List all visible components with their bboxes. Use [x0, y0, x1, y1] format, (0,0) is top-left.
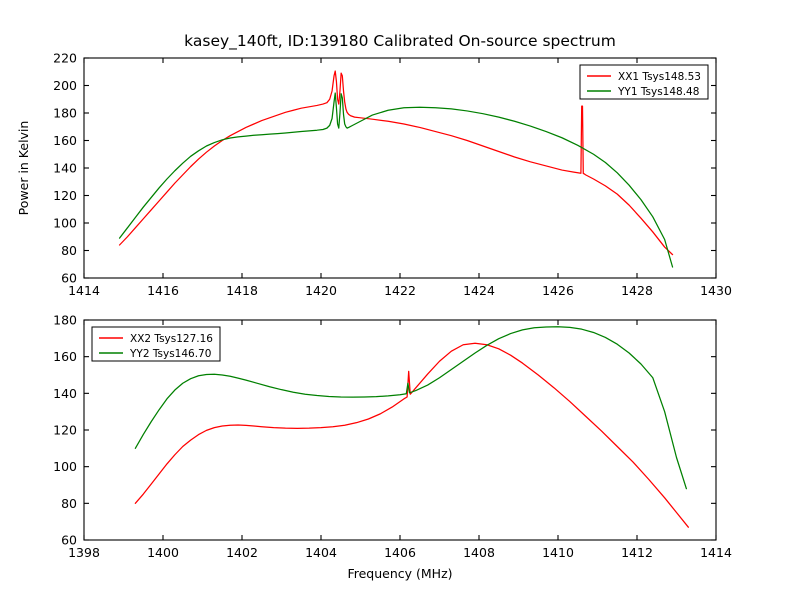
y-tick-label: 120: [53, 188, 77, 203]
y-tick-label: 160: [53, 133, 77, 148]
legend-label: YY1 Tsys148.48: [617, 86, 699, 98]
axes-panel-bottom: 1398140014021404140614081410141214146080…: [53, 313, 732, 582]
y-tick-label: 160: [53, 349, 77, 364]
y-tick-label: 80: [61, 496, 77, 511]
y-axis-label: Power in Kelvin: [16, 121, 31, 216]
x-tick-label: 1430: [700, 283, 732, 298]
x-tick-label: 1404: [305, 545, 337, 560]
y-tick-label: 60: [61, 271, 77, 286]
x-tick-label: 1406: [384, 545, 416, 560]
x-tick-label: 1418: [226, 283, 258, 298]
legend-bottom: XX2 Tsys127.16YY2 Tsys146.70: [92, 327, 220, 361]
x-tick-label: 1408: [463, 545, 495, 560]
y-tick-label: 60: [61, 533, 77, 548]
legend-label: XX1 Tsys148.53: [618, 71, 701, 83]
series-line-yy1: [120, 93, 673, 267]
x-tick-label: 1416: [147, 283, 179, 298]
x-tick-label: 1410: [542, 545, 574, 560]
legend-top: XX1 Tsys148.53YY1 Tsys148.48: [580, 65, 708, 99]
x-tick-label: 1428: [621, 283, 653, 298]
matplotlib-figure: kasey_140ft, ID:139180 Calibrated On-sou…: [0, 0, 800, 600]
figure-title: kasey_140ft, ID:139180 Calibrated On-sou…: [184, 32, 616, 51]
series-group: [120, 71, 673, 267]
y-tick-label: 140: [53, 161, 77, 176]
x-tick-label: 1414: [700, 545, 732, 560]
y-tick-label: 180: [53, 313, 77, 328]
legend-label: XX2 Tsys127.16: [130, 333, 213, 345]
legend-label: YY2 Tsys146.70: [129, 348, 211, 360]
x-tick-label: 1420: [305, 283, 337, 298]
y-tick-label: 80: [61, 243, 77, 258]
x-tick-label: 1402: [226, 545, 258, 560]
y-tick-label: 200: [53, 78, 77, 93]
x-tick-label: 1426: [542, 283, 574, 298]
series-line-xx2: [135, 343, 688, 527]
x-tick-label: 1400: [147, 545, 179, 560]
y-tick-label: 220: [53, 51, 77, 66]
x-tick-label: 1422: [384, 283, 416, 298]
y-tick-label: 120: [53, 423, 77, 438]
x-axis-label: Frequency (MHz): [347, 566, 452, 581]
x-tick-label: 1424: [463, 283, 495, 298]
y-tick-label: 100: [53, 459, 77, 474]
y-tick-label: 180: [53, 106, 77, 121]
axes-panel-top: 1414141614181420142214241426142814306080…: [16, 51, 732, 299]
spectrum-plot-canvas: kasey_140ft, ID:139180 Calibrated On-sou…: [0, 0, 800, 600]
x-tick-label: 1412: [621, 545, 653, 560]
y-tick-label: 100: [53, 216, 77, 231]
y-tick-label: 140: [53, 386, 77, 401]
